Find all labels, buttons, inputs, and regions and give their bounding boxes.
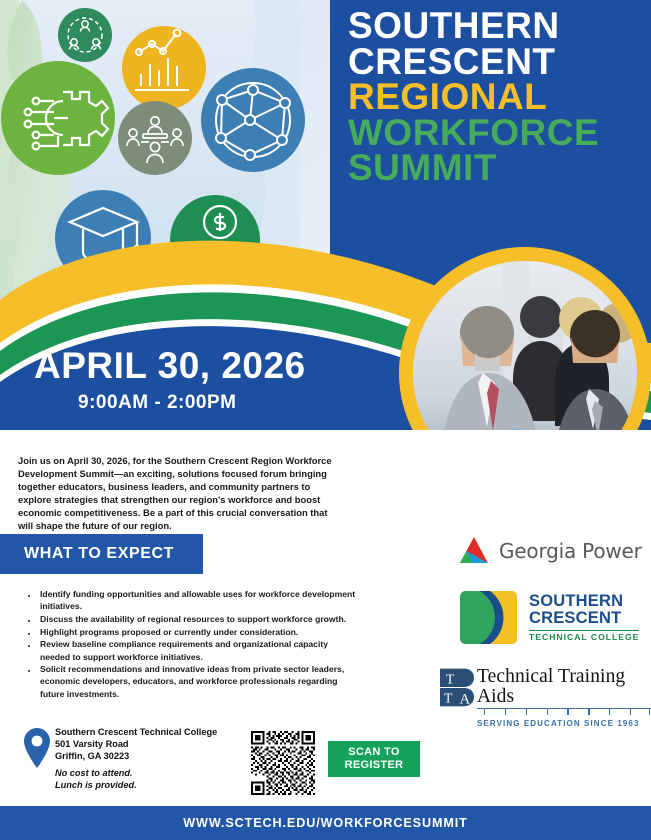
- list-item: Identify funding opportunities and allow…: [38, 588, 358, 612]
- tta-name: Technical Training Aids: [477, 667, 651, 706]
- scan-to-register-button[interactable]: SCAN TO REGISTER: [328, 741, 420, 777]
- sctc-mark-icon: [460, 591, 517, 644]
- title-line-5: SUMMIT: [348, 150, 648, 186]
- title-line-2: CRESCENT: [348, 44, 648, 80]
- scan-label-line-2: REGISTER: [345, 759, 404, 771]
- list-item: Solicit recommendations and innovative i…: [38, 663, 358, 700]
- intro-paragraph: Join us on April 30, 2026, for the South…: [18, 455, 334, 533]
- list-item: Discuss the availability of regional res…: [38, 613, 358, 625]
- gear-circuit-icon: [1, 61, 115, 175]
- svg-text:T: T: [446, 671, 455, 686]
- tta-monogram-icon: T T A: [440, 667, 474, 708]
- venue-street: 501 Varsity Road: [55, 739, 217, 751]
- lunch-note: Lunch is provided.: [55, 780, 217, 792]
- hero-section: SOUTHERN CRESCENT REGIONAL WORKFORCE SUM…: [0, 0, 651, 430]
- event-time: 9:00AM - 2:00PM: [0, 392, 400, 414]
- tta-tagline: SERVING EDUCATION SINCE 1963: [477, 719, 651, 728]
- southern-crescent-logo: SOUTHERN CRESCENT TECHNICAL COLLEGE: [460, 591, 639, 644]
- people-network-icon: [58, 8, 112, 62]
- sctc-line-2: CRESCENT: [529, 610, 639, 627]
- poster-title: SOUTHERN CRESCENT REGIONAL WORKFORCE SUM…: [348, 8, 648, 186]
- scan-label-line-1: SCAN TO: [348, 746, 399, 758]
- sctc-line-3: TECHNICAL COLLEGE: [529, 633, 639, 642]
- title-line-3: REGIONAL: [348, 79, 648, 115]
- scan-button-label: SCAN TO REGISTER: [345, 746, 404, 773]
- venue-name: Southern Crescent Technical College: [55, 727, 217, 739]
- footer-bar: WWW.SCTECH.EDU/WORKFORCESUMMIT: [0, 806, 651, 840]
- event-date-block: APRIL 30, 2026 9:00AM - 2:00PM: [0, 345, 400, 414]
- title-line-1: SOUTHERN: [348, 8, 648, 44]
- footer-url[interactable]: WWW.SCTECH.EDU/WORKFORCESUMMIT: [183, 816, 467, 830]
- svg-text:A: A: [459, 692, 470, 708]
- georgia-power-name: Georgia Power: [499, 539, 642, 563]
- tta-wordmark: Technical Training Aids SERVING EDUCATIO…: [477, 667, 651, 728]
- georgia-power-triangle-icon: [457, 536, 491, 566]
- qr-code[interactable]: [251, 731, 315, 795]
- what-to-expect-banner: WHAT TO EXPECT: [0, 534, 203, 574]
- expectations-list: Identify funding opportunities and allow…: [22, 588, 358, 700]
- list-item: Highlight programs proposed or currently…: [38, 626, 358, 638]
- bar-chart-growth-icon: [122, 26, 206, 110]
- sctc-line-1: SOUTHERN: [529, 593, 639, 610]
- what-to-expect-heading: WHAT TO EXPECT: [24, 545, 174, 563]
- location-block: Southern Crescent Technical College 501 …: [55, 727, 217, 792]
- meeting-table-icon: [118, 101, 192, 175]
- svg-text:T: T: [444, 691, 453, 706]
- sctc-wordmark: SOUTHERN CRESCENT TECHNICAL COLLEGE: [529, 593, 639, 642]
- sctc-divider: [529, 630, 639, 632]
- title-line-4: WORKFORCE: [348, 115, 648, 151]
- technical-training-aids-logo: T T A Technical Training Aids SERVING ED…: [440, 667, 651, 728]
- tta-ruler-graphic: [477, 708, 651, 718]
- poster-root: SOUTHERN CRESCENT REGIONAL WORKFORCE SUM…: [0, 0, 651, 840]
- event-date: APRIL 30, 2026: [0, 345, 400, 387]
- cost-note: No cost to attend.: [55, 768, 217, 780]
- location-pin-icon: [24, 728, 50, 768]
- list-item: Review baseline compliance requirements …: [38, 638, 358, 662]
- venue-city: Griffin, GA 30223: [55, 751, 217, 763]
- georgia-power-logo: Georgia Power: [457, 536, 642, 566]
- global-network-icon: [201, 68, 305, 172]
